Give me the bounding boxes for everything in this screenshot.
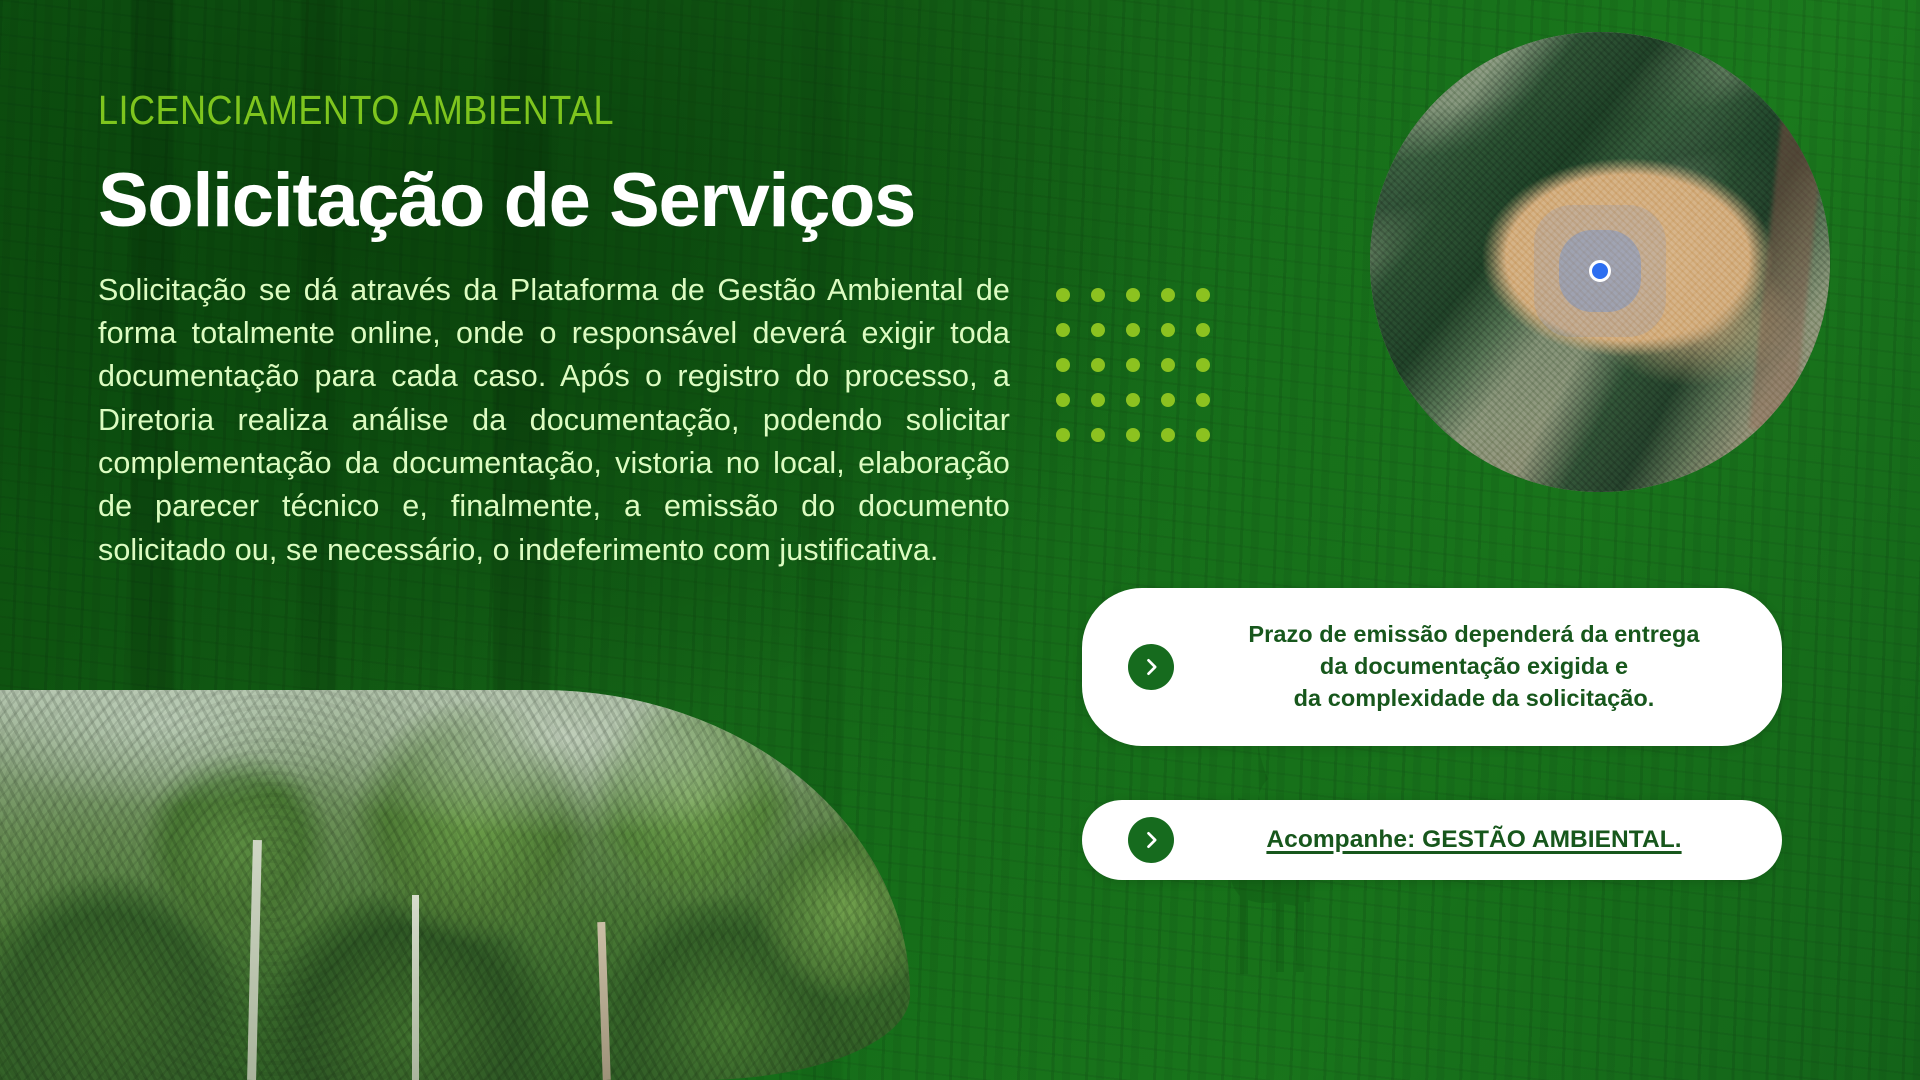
dot	[1161, 323, 1175, 337]
forest-tree-trunk	[412, 895, 419, 1080]
info-pill-acompanhe-link[interactable]: Acompanhe: GESTÃO AMBIENTAL.	[1196, 823, 1752, 856]
dot	[1091, 288, 1105, 302]
aerial-satellite-photo	[1370, 32, 1830, 492]
forest-photo-foliage-texture	[0, 690, 910, 1080]
rainforest-canopy-photo	[0, 690, 910, 1080]
pill-line-2: da documentação exigida e	[1320, 653, 1628, 679]
dot	[1126, 323, 1140, 337]
body-paragraph: Solicitação se dá através da Plataforma …	[98, 269, 1010, 572]
chevron-right-icon	[1128, 644, 1174, 690]
dot	[1196, 428, 1210, 442]
dot	[1091, 323, 1105, 337]
eyebrow-label: LICENCIAMENTO AMBIENTAL	[98, 88, 908, 133]
info-pill-prazo[interactable]: Prazo de emissão dependerá da entrega da…	[1082, 588, 1782, 746]
dot	[1126, 358, 1140, 372]
dot	[1091, 358, 1105, 372]
dot	[1126, 428, 1140, 442]
dot	[1091, 428, 1105, 442]
pill-line-3: da complexidade da solicitação.	[1294, 685, 1655, 711]
dot	[1056, 393, 1070, 407]
pill-line-1: Prazo de emissão dependerá da entrega	[1248, 621, 1699, 647]
dot	[1056, 428, 1070, 442]
dot	[1161, 393, 1175, 407]
dot	[1196, 323, 1210, 337]
chevron-right-icon	[1128, 817, 1174, 863]
dot	[1056, 323, 1070, 337]
info-pill-prazo-text: Prazo de emissão dependerá da entrega da…	[1196, 619, 1752, 715]
dot	[1056, 358, 1070, 372]
dot	[1161, 358, 1175, 372]
dot	[1126, 288, 1140, 302]
dot	[1196, 393, 1210, 407]
dot	[1056, 288, 1070, 302]
dot	[1161, 288, 1175, 302]
page-title: Solicitação de Serviços	[98, 161, 1018, 241]
text-column: LICENCIAMENTO AMBIENTAL Solicitação de S…	[98, 88, 1018, 572]
dot	[1196, 358, 1210, 372]
map-location-marker-icon	[1589, 260, 1611, 282]
dot	[1126, 393, 1140, 407]
dot	[1091, 393, 1105, 407]
dot	[1196, 288, 1210, 302]
dot	[1161, 428, 1175, 442]
dot-grid-decoration	[1056, 288, 1210, 442]
info-pill-acompanhe[interactable]: Acompanhe: GESTÃO AMBIENTAL.	[1082, 800, 1782, 880]
